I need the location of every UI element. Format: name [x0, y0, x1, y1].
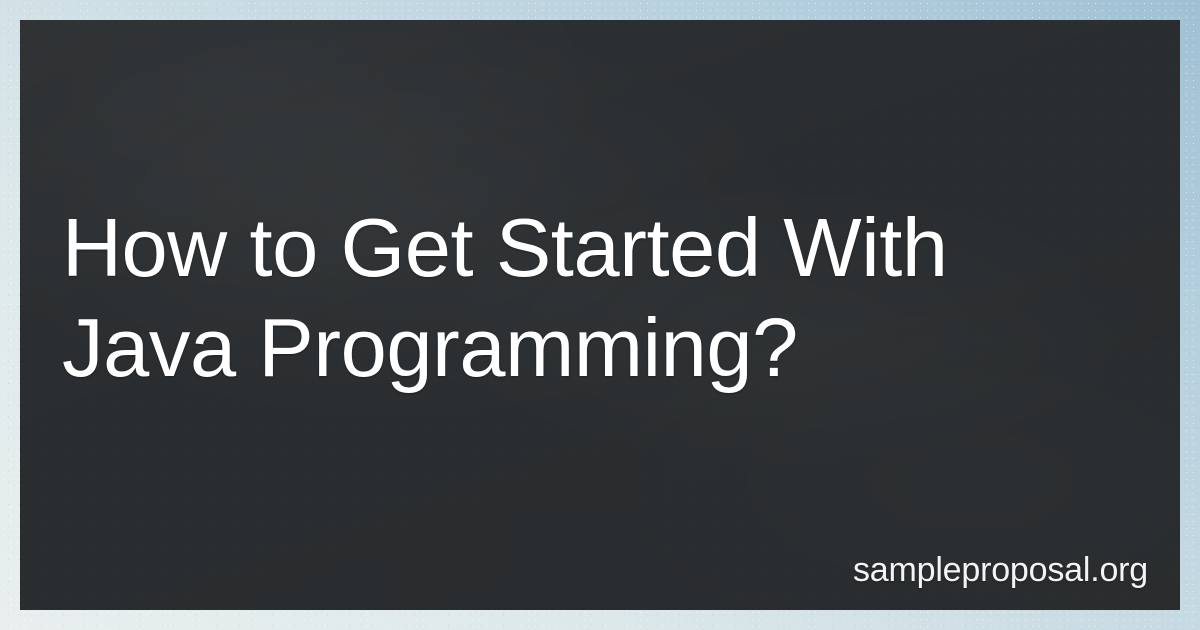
dark-content-panel: How to Get Started With Java Programming…: [20, 20, 1180, 610]
site-attribution: sampleproposal.org: [853, 550, 1148, 590]
social-card: How to Get Started With Java Programming…: [0, 0, 1200, 630]
page-title: How to Get Started With Java Programming…: [62, 198, 1120, 398]
